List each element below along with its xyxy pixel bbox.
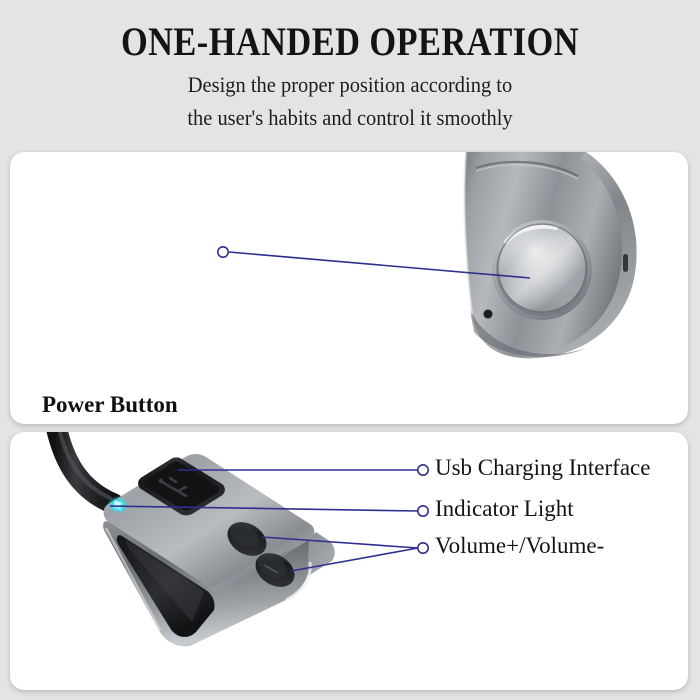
page-title: ONE-HANDED OPERATION [49,18,651,65]
mic-pinhole [484,310,493,319]
callout-title-power-button: Power Button [42,392,178,418]
label-usb-charging-interface: Usb Charging Interface [435,455,650,481]
control-module-panel: Usb Charging Interface Indicator Light V… [10,432,688,690]
label-indicator-light: Indicator Light [435,496,574,522]
label-volume-buttons: Volume+/Volume- [435,533,604,559]
infographic-root: ONE-HANDED OPERATION Design the proper p… [0,0,700,700]
indicator-light-led [107,496,129,514]
subtitle-line-1: Design the proper position according to [25,72,676,98]
header: ONE-HANDED OPERATION Design the proper p… [0,0,700,150]
subtitle-line-2: the user's habits and control it smoothl… [25,105,676,131]
control-module-illustration [10,432,450,690]
earpiece-illustration [410,152,688,422]
power-button-panel: Power Button Multifunction keys at your … [10,152,688,424]
side-slot [623,254,628,272]
